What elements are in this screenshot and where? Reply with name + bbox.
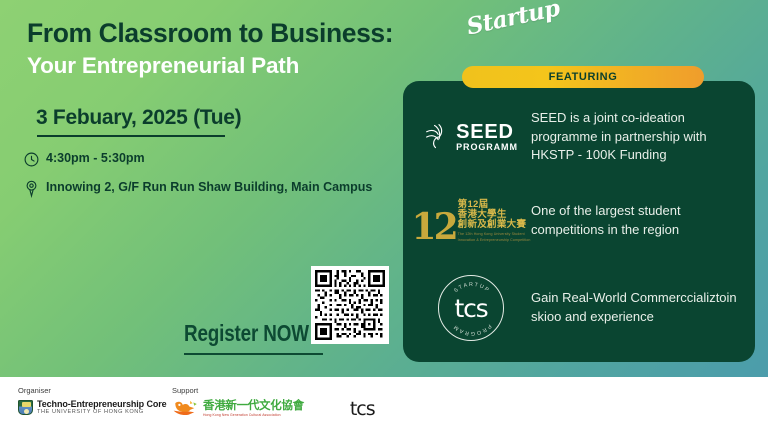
hku-logo: Techno-Entrepreneurship Core THE UNIVERS… — [18, 399, 167, 415]
seed-logo-sub: PROGRAMM — [456, 143, 518, 152]
competition-cn-line3: 創新及創業大賽 — [458, 220, 531, 230]
organiser-university: THE UNIVERSITY OF HONG KONG — [37, 409, 167, 415]
qr-code-icon[interactable] — [311, 266, 389, 344]
page-title: From Classroom to Business: — [27, 19, 507, 49]
tcs-arc-top-label: STARTUP — [453, 282, 491, 294]
event-venue: Innowing 2, G/F Run Run Shaw Building, M… — [46, 177, 372, 196]
startup-script-badge: Startup — [464, 0, 562, 40]
svg-text:PROGRAM: PROGRAM — [452, 323, 492, 336]
organiser-label: Organiser — [18, 386, 167, 395]
support-logo-en: Hong Kong New Generation Cultural Associ… — [203, 414, 304, 417]
footer: Organiser Techno-Entrepreneurship Core T… — [0, 377, 768, 432]
lion-dance-mark-icon — [172, 399, 200, 419]
featuring-item-text: SEED is a joint co-ideation programme in… — [529, 109, 741, 166]
event-time-row: 4:30pm - 5:30pm — [16, 148, 376, 170]
page-subtitle: Your Entrepreneurial Path — [27, 52, 507, 79]
featuring-items: SEED PROGRAMM SEED is a joint co-ideatio… — [403, 95, 755, 357]
location-pin-icon — [16, 177, 46, 199]
organiser-group: Organiser Techno-Entrepreneurship Core T… — [18, 386, 167, 415]
competition-number: 12 — [412, 213, 456, 243]
featuring-item-text: Gain Real-World Commerccializtoin skioo … — [529, 289, 741, 327]
sprout-leaf-icon — [424, 122, 454, 152]
hku-shield-icon — [18, 400, 33, 415]
tcs-arc-text: STARTUP PROGRAM — [439, 276, 505, 342]
support-group: Support 香港新一代文化協會 Hong Kon — [172, 386, 375, 419]
tcs-circle-logo: STARTUP PROGRAM tcs — [413, 275, 529, 341]
support-logo-cn: 香港新一代文化協會 — [203, 401, 304, 413]
featuring-item-text: One of the largest student competitions … — [529, 202, 741, 240]
event-date: 3 Febuary, 2025 (Tue) — [36, 106, 241, 130]
event-details: 4:30pm - 5:30pm Innowing 2, G/F Run Run … — [16, 148, 376, 206]
support-label: Support — [172, 386, 375, 395]
seed-logo-main: SEED — [456, 122, 518, 142]
tcs-arc-bottom-label: PROGRAM — [452, 323, 492, 336]
clock-icon — [16, 148, 46, 170]
register-underline — [184, 353, 323, 355]
event-poster: From Classroom to Business: Your Entrepr… — [0, 0, 768, 432]
hk-new-generation-cultural-association-logo: 香港新一代文化協會 Hong Kong New Generation Cultu… — [172, 399, 304, 419]
headline-block: From Classroom to Business: Your Entrepr… — [27, 19, 507, 79]
list-item: STARTUP PROGRAM tcs Gain Real-World Comm… — [413, 263, 741, 353]
featuring-label: FEATURING — [549, 71, 618, 83]
tcs-wordmark-logo: tcs — [350, 400, 375, 419]
list-item: SEED PROGRAMM SEED is a joint co-ideatio… — [413, 95, 741, 179]
date-underline — [37, 135, 225, 137]
organiser-name: Techno-Entrepreneurship Core — [37, 399, 167, 409]
featuring-banner: FEATURING — [462, 66, 704, 88]
hk-university-student-innovation-competition-logo: 12 第12屆 香港大學生 創新及創業大賽 The 12th Hong Kong… — [413, 200, 529, 242]
event-time: 4:30pm - 5:30pm — [46, 148, 145, 167]
competition-en-line1: The 12th Hong Kong University Student — [458, 232, 531, 236]
svg-text:STARTUP: STARTUP — [453, 282, 491, 294]
seed-programm-logo: SEED PROGRAMM — [413, 122, 529, 152]
list-item: 12 第12屆 香港大學生 創新及創業大賽 The 12th Hong Kong… — [413, 179, 741, 263]
event-venue-row: Innowing 2, G/F Run Run Shaw Building, M… — [16, 177, 376, 199]
date-block: 3 Febuary, 2025 (Tue) — [36, 106, 241, 137]
competition-en-line2: Innovation & Entrepreneurship Competitio… — [458, 238, 531, 242]
register-label: Register NOW — [184, 320, 309, 347]
